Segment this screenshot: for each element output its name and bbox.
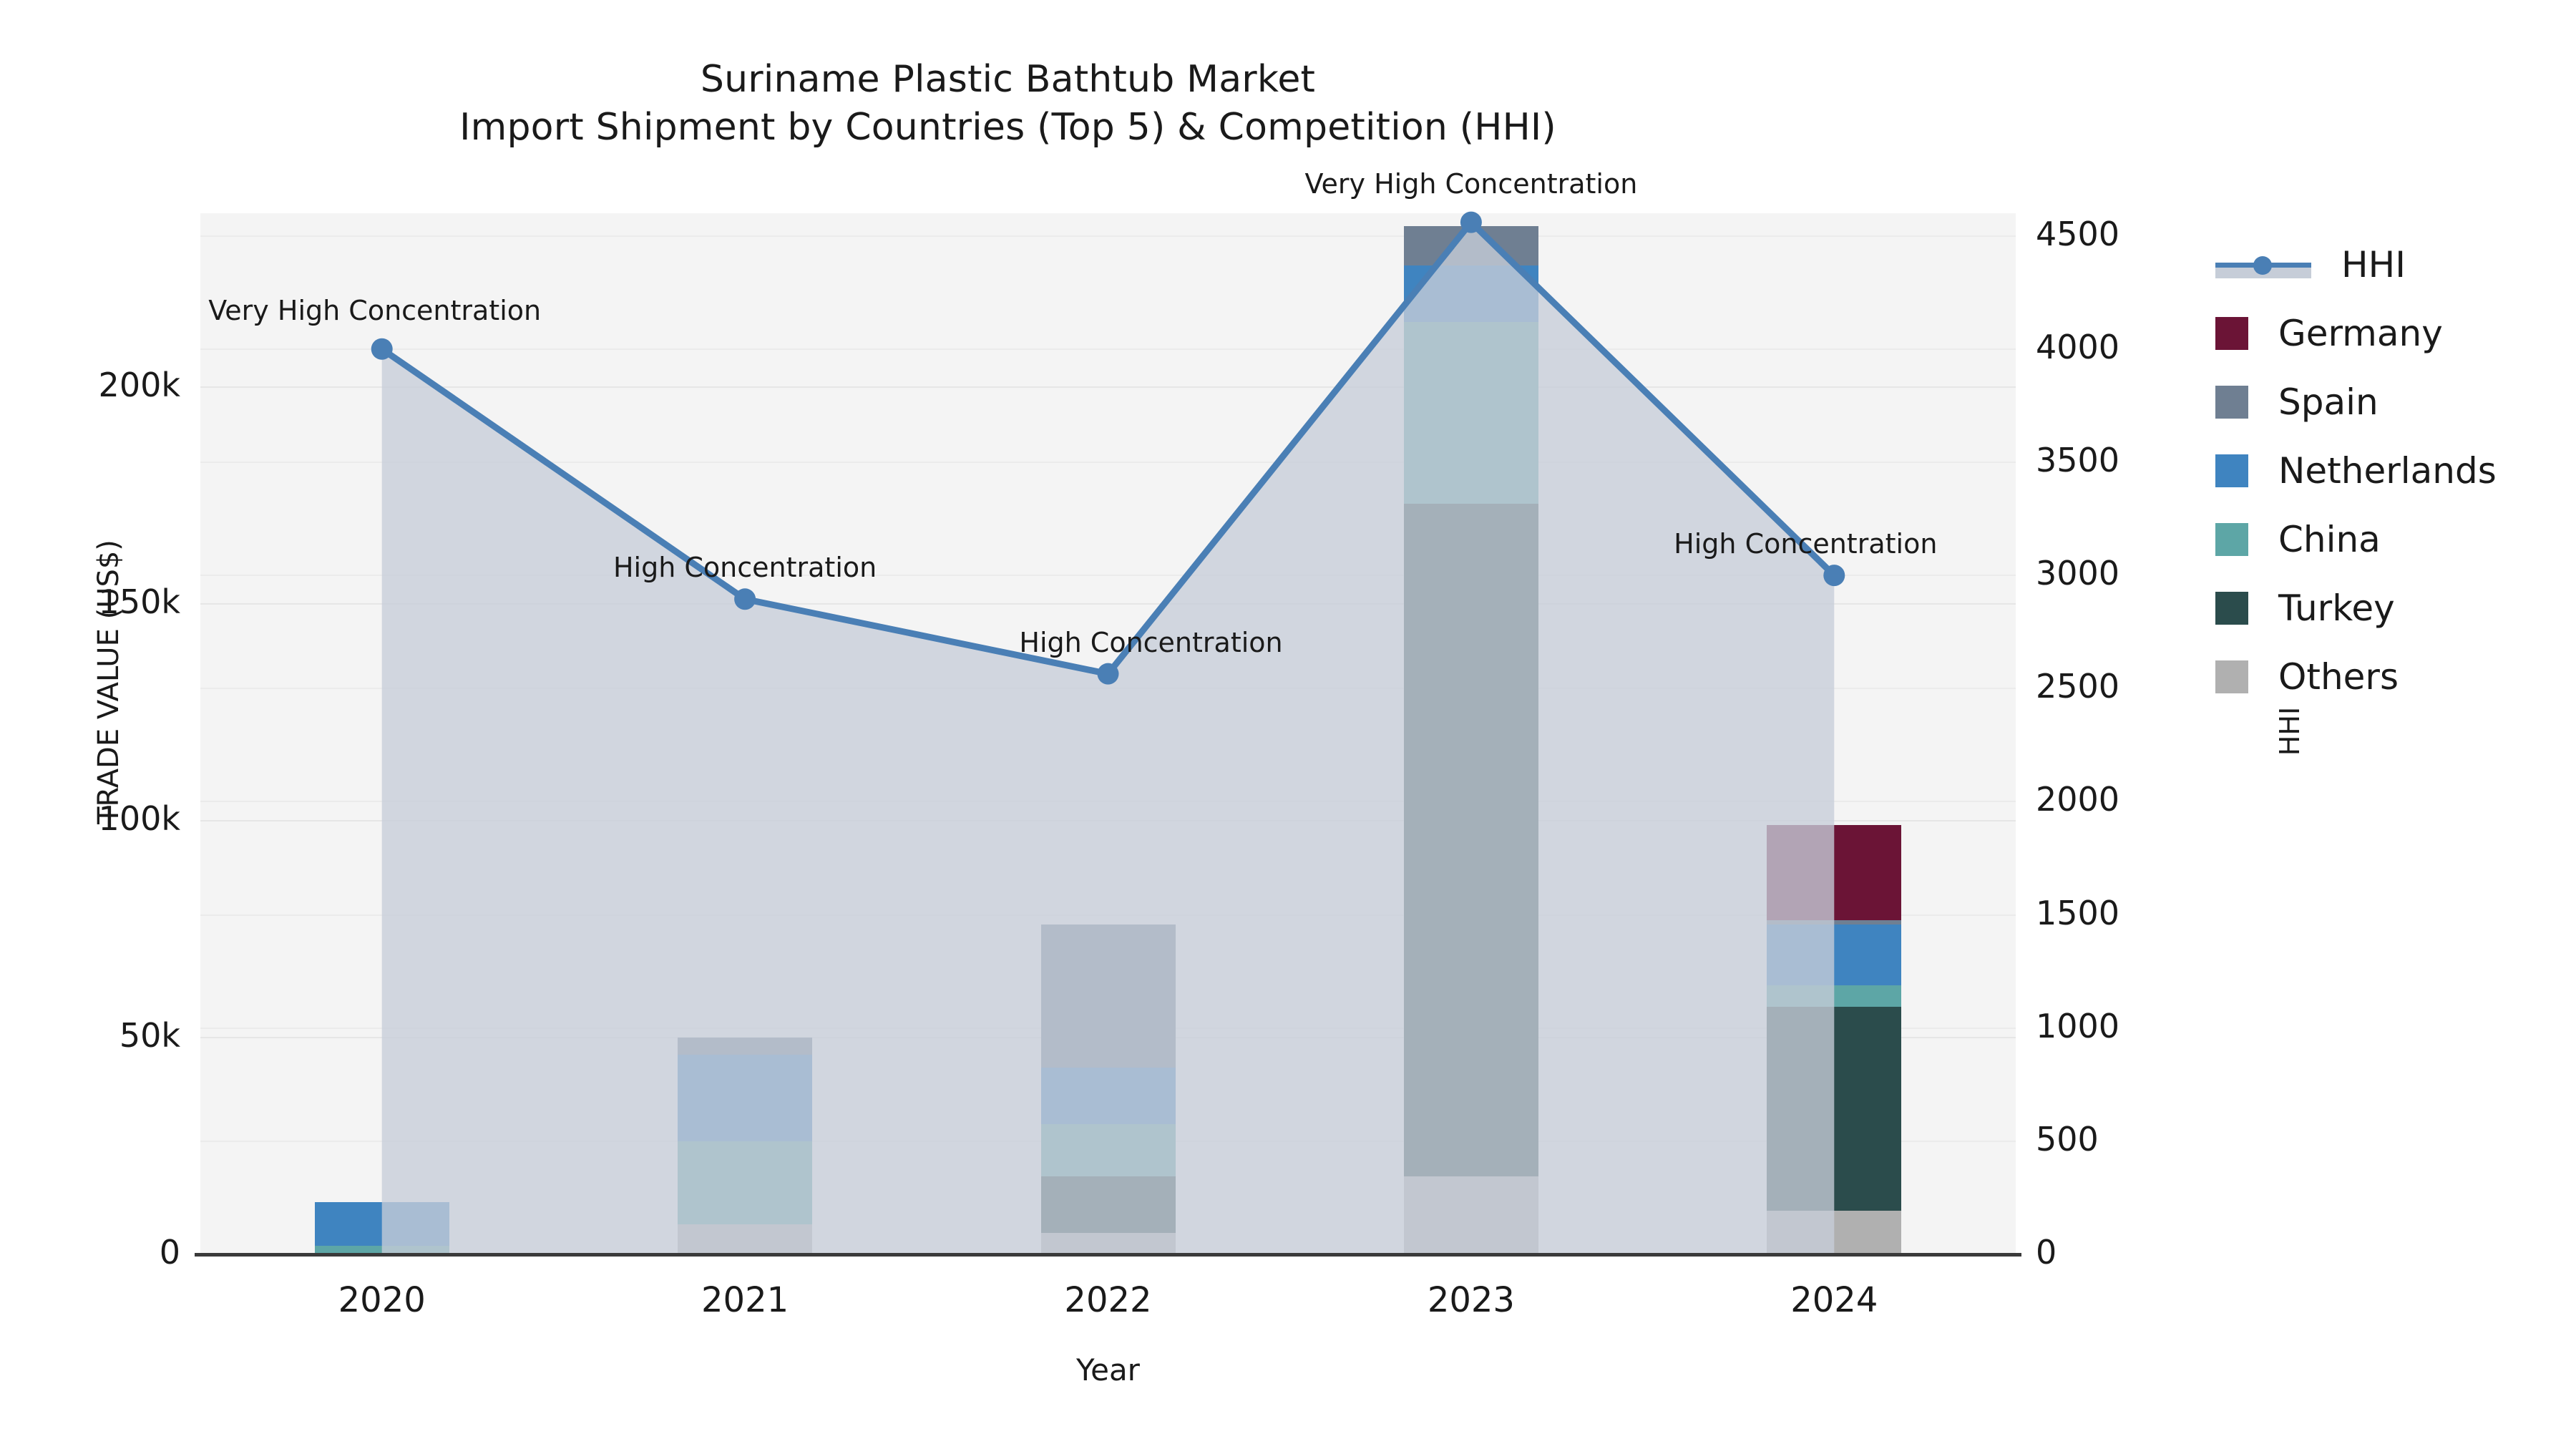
y-tick-right-1500: 1500: [2036, 894, 2119, 932]
annotation-2023: Very High Concentration: [1185, 168, 1757, 200]
y-tick-right-2000: 2000: [2036, 780, 2119, 819]
annotation-2024: High Concentration: [1519, 528, 2092, 560]
legend-label-spain: Spain: [2278, 381, 2379, 423]
y-tick-left-50k: 50k: [1, 1016, 180, 1055]
y-tick-right-500: 500: [2036, 1120, 2099, 1158]
hhi-series: [200, 213, 2016, 1254]
y-tick-right-4500: 4500: [2036, 215, 2119, 253]
y-tick-right-3500: 3500: [2036, 441, 2119, 479]
x-axis-line: [195, 1253, 2021, 1257]
x-tick-2022: 2022: [1001, 1280, 1216, 1320]
legend-item-china[interactable]: China: [2215, 505, 2497, 574]
x-tick-2020: 2020: [275, 1280, 489, 1320]
legend-item-others[interactable]: Others: [2215, 643, 2497, 711]
legend-swatch-others: [2215, 660, 2248, 693]
legend-label-turkey: Turkey: [2278, 587, 2395, 629]
legend-swatch-china: [2215, 523, 2248, 556]
legend-label-china: China: [2278, 519, 2381, 560]
legend-swatch-spain: [2215, 386, 2248, 419]
legend-label-netherlands: Netherlands: [2278, 450, 2497, 492]
hhi-point-2021[interactable]: [734, 588, 756, 610]
y-tick-left-100k: 100k: [1, 799, 180, 838]
legend-swatch-turkey: [2215, 592, 2248, 625]
annotation-2021: High Concentration: [459, 552, 1031, 583]
legend-label-others: Others: [2278, 656, 2399, 698]
x-tick-2024: 2024: [1727, 1280, 1941, 1320]
x-tick-2023: 2023: [1364, 1280, 1579, 1320]
legend-line-dot: [2253, 256, 2272, 275]
y-tick-left-150k: 150k: [1, 582, 180, 621]
y-tick-left-0: 0: [1, 1233, 180, 1272]
legend-item-turkey[interactable]: Turkey: [2215, 574, 2497, 643]
chart-title-line-2: Import Shipment by Countries (Top 5) & C…: [0, 104, 2016, 152]
legend-item-hhi[interactable]: HHI: [2215, 230, 2497, 299]
y-axis-left-title: TRADE VALUE (US$): [92, 482, 125, 882]
legend-swatch-germany: [2215, 317, 2248, 350]
x-axis-title: Year: [200, 1352, 2016, 1387]
plot-area: [200, 213, 2016, 1254]
chart-legend: HHIGermanySpainNetherlandsChinaTurkeyOth…: [2215, 230, 2497, 711]
hhi-point-2024[interactable]: [1823, 565, 1845, 586]
y-tick-right-3000: 3000: [2036, 554, 2119, 592]
legend-swatch-netherlands: [2215, 454, 2248, 487]
legend-label-germany: Germany: [2278, 313, 2443, 354]
legend-line-icon: [2215, 248, 2311, 281]
x-tick-2021: 2021: [638, 1280, 852, 1320]
chart-title: Suriname Plastic Bathtub Market Import S…: [0, 56, 2016, 151]
annotation-2020: Very High Concentration: [89, 295, 661, 326]
chart-figure: Suriname Plastic Bathtub Market Import S…: [0, 0, 2576, 1449]
y-tick-right-0: 0: [2036, 1233, 2057, 1272]
hhi-point-2020[interactable]: [371, 338, 393, 360]
legend-label-hhi: HHI: [2341, 244, 2406, 286]
hhi-area-fill: [382, 223, 1835, 1254]
legend-item-spain[interactable]: Spain: [2215, 368, 2497, 436]
y-tick-right-2500: 2500: [2036, 667, 2119, 706]
y-tick-right-4000: 4000: [2036, 328, 2119, 366]
annotation-2022: High Concentration: [865, 627, 1438, 658]
chart-title-line-1: Suriname Plastic Bathtub Market: [0, 56, 2016, 104]
hhi-point-2023[interactable]: [1460, 212, 1482, 233]
hhi-point-2022[interactable]: [1098, 663, 1119, 685]
y-tick-left-200k: 200k: [1, 366, 180, 404]
y-tick-right-1000: 1000: [2036, 1007, 2119, 1045]
legend-item-netherlands[interactable]: Netherlands: [2215, 436, 2497, 505]
legend-item-germany[interactable]: Germany: [2215, 299, 2497, 368]
